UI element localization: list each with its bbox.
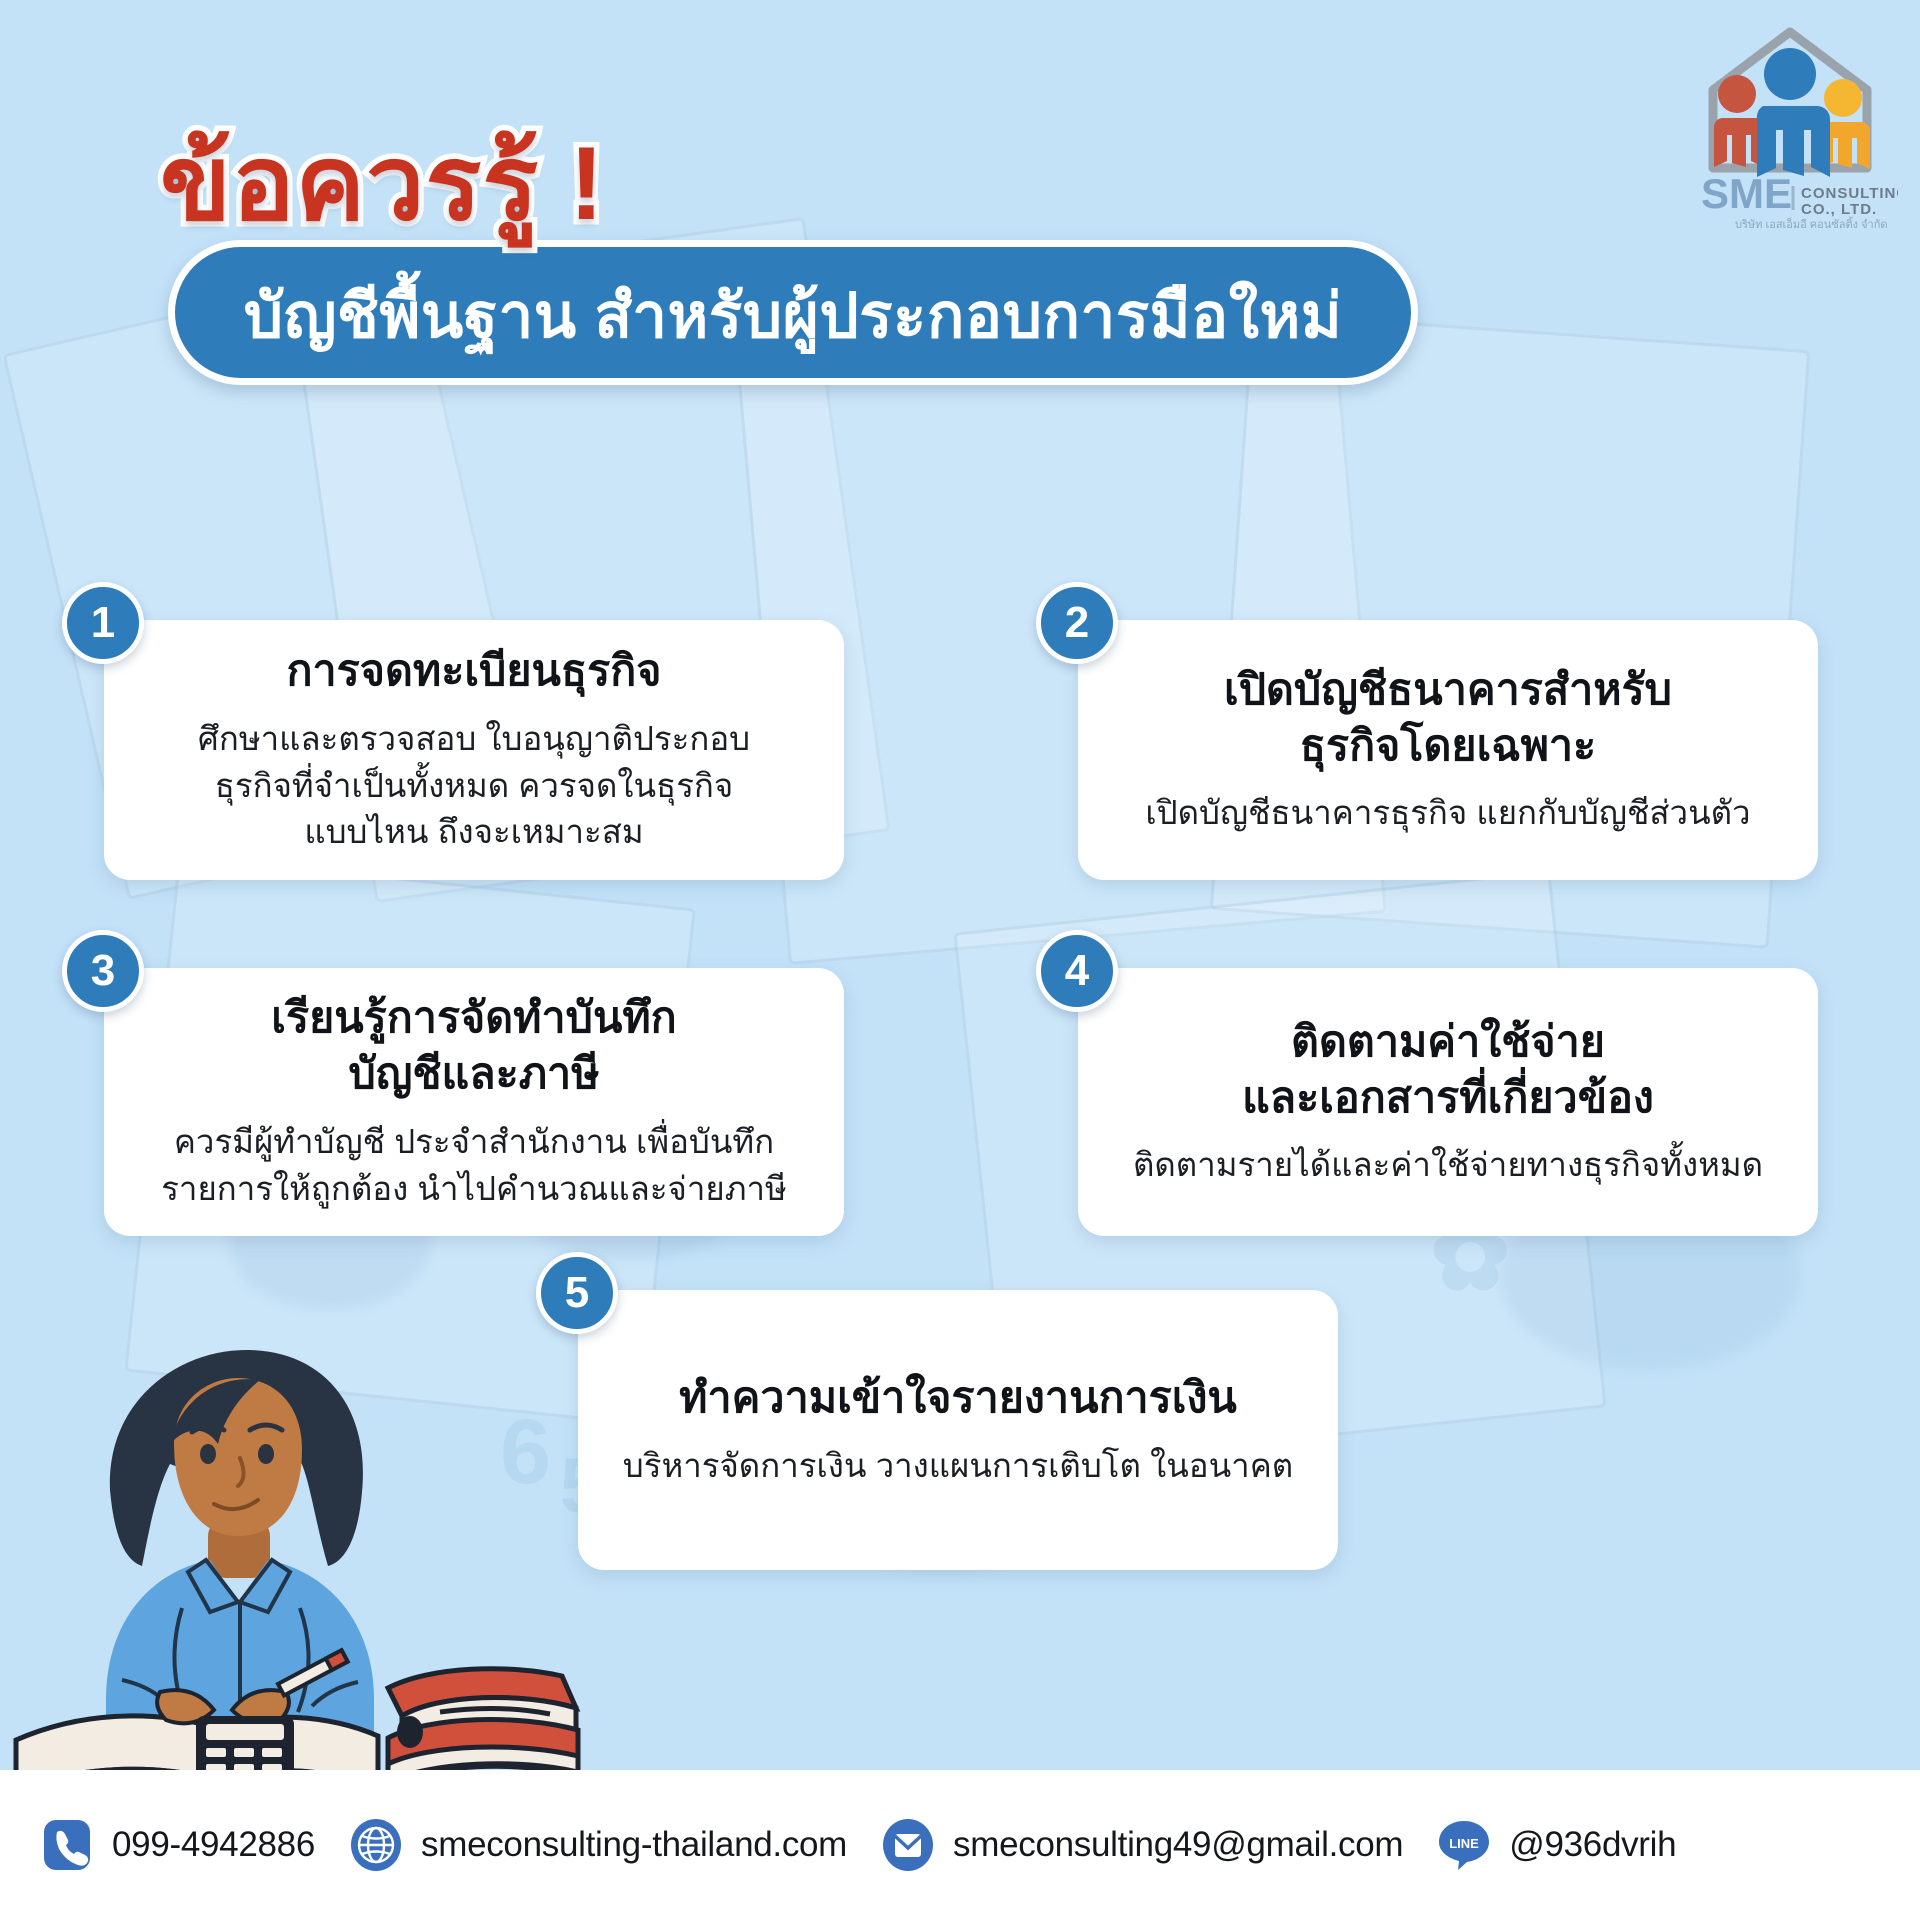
line-icon-label: LINE [1449,1836,1479,1851]
step-badge-4: 4 [1036,930,1118,1012]
contact-website[interactable]: smeconsulting-thailand.com [349,1818,847,1872]
step-card-4: ติดตามค่าใช้จ่าย และเอกสารที่เกี่ยวข้อง … [1078,968,1818,1236]
step-card-3: เรียนรู้การจัดทำบันทึก บัญชีและภาษี ควรม… [104,968,844,1236]
contact-line[interactable]: LINE @936dvrih [1437,1818,1676,1872]
step-card-3-body: ควรมีผู้ทำบัญชี ประจำสำนักงาน เพื่อบันทึ… [161,1119,787,1213]
step-card-1-body-line: แบบไหน ถึงจะเหมาะสม [198,809,750,856]
svg-text:CO., LTD.: CO., LTD. [1801,201,1877,218]
globe-icon [349,1818,403,1872]
website-url: smeconsulting-thailand.com [421,1825,847,1865]
step-card-4-body: ติดตามรายได้และค่าใช้จ่ายทางธุรกิจทั้งหม… [1133,1142,1763,1189]
step-card-1-body-line: ธุรกิจที่จำเป็นทั้งหมด ควรจดในธุรกิจ [198,763,750,810]
step-card-4-title-line: และเอกสารที่เกี่ยวข้อง [1242,1071,1654,1127]
step-card-2-title-line: เปิดบัญชีธนาคารสำหรับ [1224,663,1672,719]
contact-footer: 099-4942886 smeconsulting-thailand.com [0,1770,1920,1920]
step-card-4-title-line: ติดตามค่าใช้จ่าย [1242,1015,1654,1071]
step-card-1-body: ศึกษาและตรวจสอบ ใบอนุญาติประกอบ ธุรกิจที… [198,716,750,857]
line-id: @936dvrih [1509,1825,1676,1865]
accountant-illustration [10,1340,590,1810]
page-headline: ข้อควรรู้ ! [160,132,605,236]
step-card-1-title: การจดทะเบียนธุรกิจ [287,644,662,700]
step-card-3-body-line: รายการให้ถูกต้อง นำไปคำนวณและจ่ายภาษี [161,1166,787,1213]
step-badge-1: 1 [62,582,144,664]
step-card-5: ทำความเข้าใจรายงานการเงิน บริหารจัดการเง… [578,1290,1338,1570]
step-card-1: การจดทะเบียนธุรกิจ ศึกษาและตรวจสอบ ใบอนุ… [104,620,844,880]
step-card-3-title-line: เรียนรู้การจัดทำบันทึก [271,991,676,1047]
svg-text:CONSULTING: CONSULTING [1801,185,1898,202]
step-card-2-title-line: ธุรกิจโดยเฉพาะ [1224,719,1672,775]
email-address: smeconsulting49@gmail.com [953,1825,1403,1865]
step-card-3-title-line: บัญชีและภาษี [271,1047,676,1103]
step-badge-2: 2 [1036,582,1118,664]
step-card-5-body-line: บริหารจัดการเงิน วางแผนการเติบโต ในอนาคต [623,1443,1293,1490]
phone-icon [40,1818,94,1872]
step-card-2-body-line: เปิดบัญชีธนาคารธุรกิจ แยกกับบัญชีส่วนตัว [1145,790,1750,837]
sme-consulting-logo: SME CONSULTING CO., LTD. บริษัท เอสเอ็มอ… [1683,18,1898,233]
step-card-2: เปิดบัญชีธนาคารสำหรับ ธุรกิจโดยเฉพาะ เปิ… [1078,620,1818,880]
logo-brand-text: SME [1701,170,1792,217]
email-icon [881,1818,935,1872]
step-card-3-title: เรียนรู้การจัดทำบันทึก บัญชีและภาษี [271,991,676,1103]
step-card-1-body-line: ศึกษาและตรวจสอบ ใบอนุญาติประกอบ [198,716,750,763]
subtitle-banner: บัญชีพื้นฐาน สำหรับผู้ประกอบการมือใหม่ [168,240,1418,385]
step-card-4-body-line: ติดตามรายได้และค่าใช้จ่ายทางธุรกิจทั้งหม… [1133,1142,1763,1189]
step-card-5-title: ทำความเข้าใจรายงานการเงิน [679,1371,1237,1427]
svg-text:บริษัท เอสเอ็มอี คอนซัลติ้ง จำ: บริษัท เอสเอ็มอี คอนซัลติ้ง จำกัด [1735,216,1888,231]
phone-number: 099-4942886 [112,1825,315,1865]
step-badge-3: 3 [62,930,144,1012]
step-card-2-body: เปิดบัญชีธนาคารธุรกิจ แยกกับบัญชีส่วนตัว [1145,790,1750,837]
step-badge-5: 5 [536,1252,618,1334]
contact-phone[interactable]: 099-4942886 [40,1818,315,1872]
step-card-4-title: ติดตามค่าใช้จ่าย และเอกสารที่เกี่ยวข้อง [1242,1015,1654,1127]
step-card-5-body: บริหารจัดการเงิน วางแผนการเติบโต ในอนาคต [623,1443,1293,1490]
line-icon: LINE [1437,1818,1491,1872]
step-card-2-title: เปิดบัญชีธนาคารสำหรับ ธุรกิจโดยเฉพาะ [1224,663,1672,775]
subtitle-banner-text: บัญชีพื้นฐาน สำหรับผู้ประกอบการมือใหม่ [244,261,1343,365]
step-card-3-body-line: ควรมีผู้ทำบัญชี ประจำสำนักงาน เพื่อบันทึ… [161,1119,787,1166]
contact-email[interactable]: smeconsulting49@gmail.com [881,1818,1403,1872]
